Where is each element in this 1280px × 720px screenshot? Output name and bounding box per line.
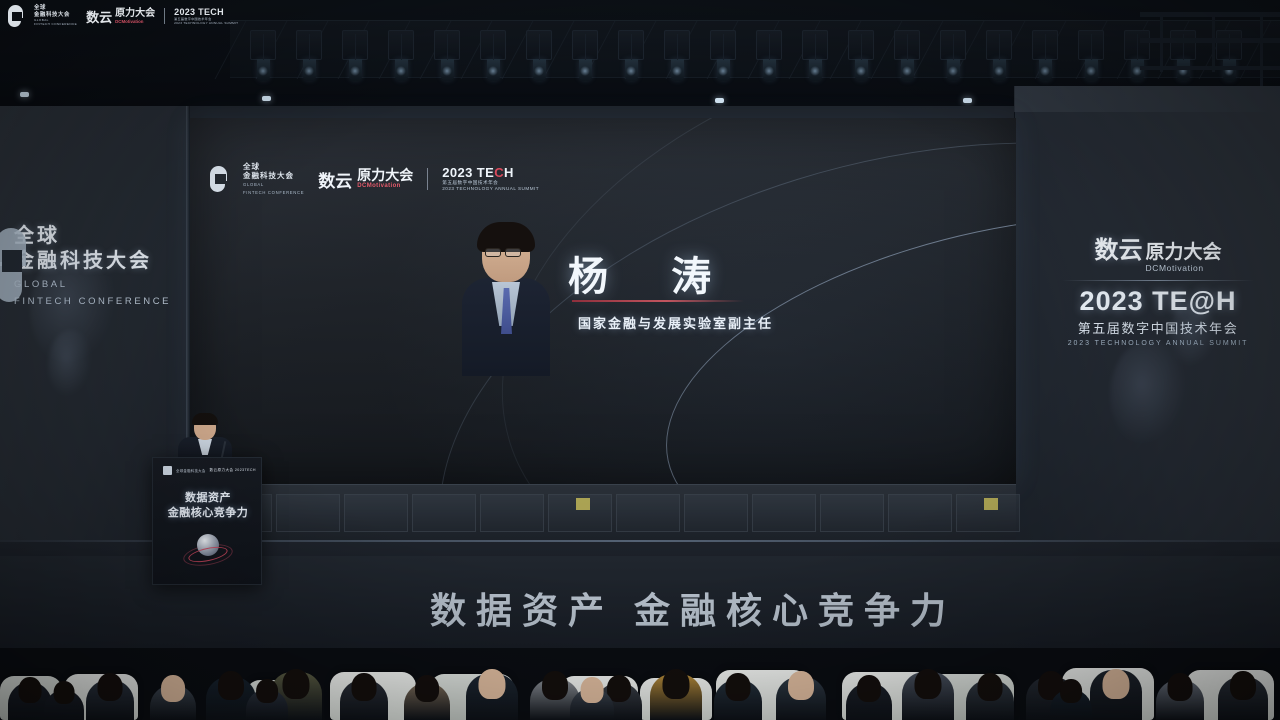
stage-front-cell — [276, 494, 340, 532]
wall-light-strip — [1014, 86, 1280, 112]
stage-front-cell — [752, 494, 816, 532]
podium-logo-mark-icon — [163, 466, 172, 475]
rigging-cable — [539, 34, 540, 60]
screen-event-mark: 数云 — [318, 167, 352, 192]
stage-front-cell — [480, 494, 544, 532]
stage-light-row — [250, 30, 1280, 82]
stage-light-glow — [626, 66, 636, 76]
audience-head — [1168, 673, 1193, 701]
audience-head — [19, 677, 42, 703]
stage-light-glow — [1086, 66, 1096, 76]
screen-logo-summit: 2023 TECH 第五届数字中国技术年会 2023 TECHNOLOGY AN… — [442, 166, 539, 192]
rigging-cable — [999, 34, 1000, 60]
broadcast-watermark: 全球 金融科技大会 GLOBAL FINTECH CONFERENCE 数云 原… — [8, 5, 238, 27]
stage-front-panel — [190, 484, 1016, 542]
stage-light-glow — [304, 66, 314, 76]
audience-head — [788, 671, 814, 700]
audience-head — [161, 675, 185, 702]
audience-head — [352, 673, 377, 701]
podium-logo: 全球金融科技大会 数云原力大会 2023TECH — [163, 466, 256, 475]
rigging-cable — [907, 34, 908, 60]
podium-title: 数据资产 金融核心竞争力 — [153, 491, 262, 521]
wall-right-divider — [1062, 280, 1254, 281]
audience-head — [857, 675, 881, 702]
audience-member — [86, 658, 134, 720]
audience-member — [150, 664, 196, 720]
stage-front-accent — [576, 498, 590, 510]
speaker-portrait — [462, 226, 550, 376]
audience-head — [542, 671, 568, 700]
fintech-logo-mark-icon — [8, 5, 30, 27]
stage-light-glow — [350, 66, 360, 76]
stage-light-glow — [534, 66, 544, 76]
audience-member — [44, 672, 84, 720]
audience-member — [1218, 654, 1268, 720]
audience-head — [662, 669, 689, 699]
watermark-org-en2: FINTECH CONFERENCE — [34, 22, 77, 26]
watermark-event-en: DCMotivation — [115, 19, 155, 24]
stage-light-glow — [764, 66, 774, 76]
speaker-title: 国家金融与发展实验室副主任 — [578, 313, 773, 332]
rigging-cable — [861, 34, 862, 60]
stage-light-glow — [1040, 66, 1050, 76]
stage-light-glow — [258, 66, 268, 76]
rigging-cable — [631, 34, 632, 60]
rigging-cable — [493, 34, 494, 60]
rigging-cable — [677, 34, 678, 60]
podium-logo-event: 数云原力大会 2023TECH — [210, 468, 256, 473]
audience-head — [415, 675, 439, 702]
led-screen: 全球 金融科技大会 GLOBAL FINTECH CONFERENCE 数云 原… — [190, 118, 1016, 486]
screen-event-en: DCMotivation — [357, 183, 413, 190]
conference-stage-photo: 全球 金融科技大会 GLOBAL FINTECH CONFERENCE 数云 原… — [0, 0, 1280, 720]
rigging-cable — [723, 34, 724, 60]
watermark-event-cn: 原力大会 — [115, 8, 155, 19]
audience-member — [340, 658, 388, 720]
truss-brace — [215, 21, 247, 79]
rigging-cable — [585, 34, 586, 60]
audience-member — [1156, 658, 1204, 720]
rigging-cable — [953, 34, 954, 60]
audience-member — [246, 670, 288, 720]
audience-head — [978, 673, 1003, 701]
watermark-year-tech: 2023 TECH — [174, 7, 238, 17]
audience-head — [218, 671, 244, 700]
stage-light-glow — [902, 66, 912, 76]
stage-light-glow — [580, 66, 590, 76]
audience-head — [726, 673, 751, 701]
stage-light-glow — [488, 66, 498, 76]
audience-member — [650, 650, 702, 720]
audience-head — [1060, 679, 1082, 703]
house-light — [963, 98, 972, 103]
wall-right-title-cn: 原力大会 — [1145, 243, 1221, 263]
screen-summit-tech: 2023 TECH — [442, 166, 539, 180]
stage-light-glow — [994, 66, 1004, 76]
audience-member — [902, 648, 954, 720]
wall-right-mark: 数云 — [1094, 230, 1142, 265]
screen-fintech-cn2: 金融科技大会 — [243, 171, 304, 180]
rigging-cable — [447, 34, 448, 60]
screen-logo-fintech: 全球 金融科技大会 GLOBAL FINTECH CONFERENCE — [210, 162, 304, 196]
audience-head — [914, 669, 941, 699]
rigging-cable — [263, 34, 264, 60]
audience-head — [1102, 669, 1129, 699]
podium-logo-org: 全球金融科技大会 — [176, 469, 206, 473]
house-light — [715, 98, 724, 103]
wall-right-title-en: DCMotivation — [1145, 263, 1203, 273]
screen-fintech-cn1: 全球 — [243, 162, 304, 171]
podium-title-line1: 数据资产 — [153, 491, 262, 506]
audience-head — [581, 677, 604, 703]
audience-area: 中国民生银行中国进出口银行中信银行中国民生银行 — [0, 560, 1280, 720]
stage-light-glow — [810, 66, 820, 76]
watermark-event-logo: 数云 原力大会 DCMotivation — [86, 7, 155, 26]
stage-front-cell — [888, 494, 952, 532]
truss-beam — [1160, 12, 1163, 72]
stage-front-cell — [412, 494, 476, 532]
screen-logo-divider — [427, 168, 428, 190]
stage-light-glow — [442, 66, 452, 76]
wall-left-cn-line1: 全球 — [14, 224, 189, 249]
audience-head — [478, 669, 505, 699]
screen-fintech-en1: GLOBAL — [243, 182, 304, 188]
rigging-cable — [769, 34, 770, 60]
watermark-summit-logo: 2023 TECH 第五届数字中国技术年会 2023 TECHNOLOGY AN… — [174, 7, 238, 25]
rigging-cable — [401, 34, 402, 60]
house-light — [262, 96, 271, 101]
audience-member — [846, 662, 892, 720]
audience-member — [570, 668, 614, 720]
stage-light-glow — [672, 66, 682, 76]
rigging-cable — [309, 34, 310, 60]
rigging-cable — [1045, 34, 1046, 60]
wall-brand-right: 数云 原力大会 DCMotivation 2023 TE@H 第五届数字中国技术… — [1058, 230, 1258, 347]
rigging-cable — [355, 34, 356, 60]
audience-member — [1090, 646, 1142, 720]
stage-light-glow — [856, 66, 866, 76]
stage-front-cell — [684, 494, 748, 532]
rigging-cable — [815, 34, 816, 60]
stage-front-cell — [820, 494, 884, 532]
watermark-event-mark: 数云 — [86, 7, 112, 26]
watermark-summit-en: 2023 TECHNOLOGY ANNUAL SUMMIT — [174, 21, 238, 25]
audience-head — [54, 681, 75, 704]
wall-right-summit-cn: 第五届数字中国技术年会 — [1058, 318, 1258, 337]
screen-fintech-en2: FINTECH CONFERENCE — [243, 190, 304, 196]
audience-member — [776, 654, 826, 720]
stage-light-glow — [396, 66, 406, 76]
stage-front-cell — [616, 494, 680, 532]
speaker-name-rule — [572, 300, 744, 302]
audience-head — [98, 673, 123, 701]
screen-summit-en: 2023 TECHNOLOGY ANNUAL SUMMIT — [442, 186, 539, 192]
wall-nebula-graphic — [1170, 300, 1220, 370]
watermark-divider — [164, 8, 165, 24]
screen-event-cn: 原力大会 — [357, 168, 413, 183]
wall-right-tech: 2023 TE@H — [1058, 287, 1258, 316]
wall-nebula-graphic — [48, 330, 94, 400]
rigging-cable — [1091, 34, 1092, 60]
speaker-name: 杨 涛 — [568, 244, 737, 302]
stage-light-glow — [718, 66, 728, 76]
truss-beam — [1212, 12, 1215, 72]
house-light — [20, 92, 29, 97]
audience-member — [1050, 670, 1092, 720]
audience-member — [404, 662, 450, 720]
stage-front-cell — [344, 494, 408, 532]
podium-title-line2: 金融核心竞争力 — [153, 506, 262, 521]
audience-head — [1230, 671, 1256, 700]
fintech-logo-mark-icon — [210, 166, 236, 192]
screen-logo-bar: 全球 金融科技大会 GLOBAL FINTECH CONFERENCE 数云 原… — [210, 162, 539, 196]
screen-logo-event: 数云 原力大会 DCMotivation — [318, 167, 413, 192]
audience-member — [466, 650, 518, 720]
audience-member — [714, 658, 762, 720]
rigging-cable — [1137, 34, 1138, 60]
audience-head — [256, 679, 278, 703]
watermark-fintech-logo: 全球 金融科技大会 GLOBAL FINTECH CONFERENCE — [8, 5, 77, 27]
stage-light-glow — [948, 66, 958, 76]
stage-front-accent — [984, 498, 998, 510]
audience-member — [966, 658, 1014, 720]
